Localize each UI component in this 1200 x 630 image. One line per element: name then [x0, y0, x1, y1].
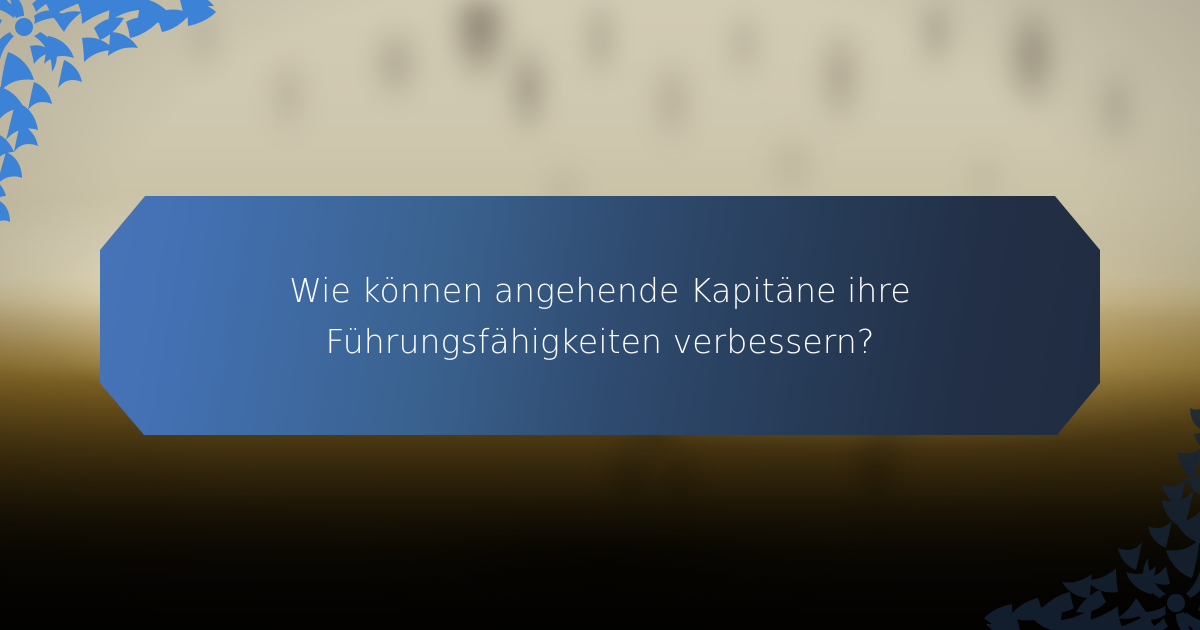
headline-banner: Wie können angehende Kapitäne ihre Führu… [100, 196, 1100, 435]
page-title: Wie können angehende Kapitäne ihre Führu… [270, 265, 930, 367]
social-card: Wie können angehende Kapitäne ihre Führu… [0, 0, 1200, 630]
